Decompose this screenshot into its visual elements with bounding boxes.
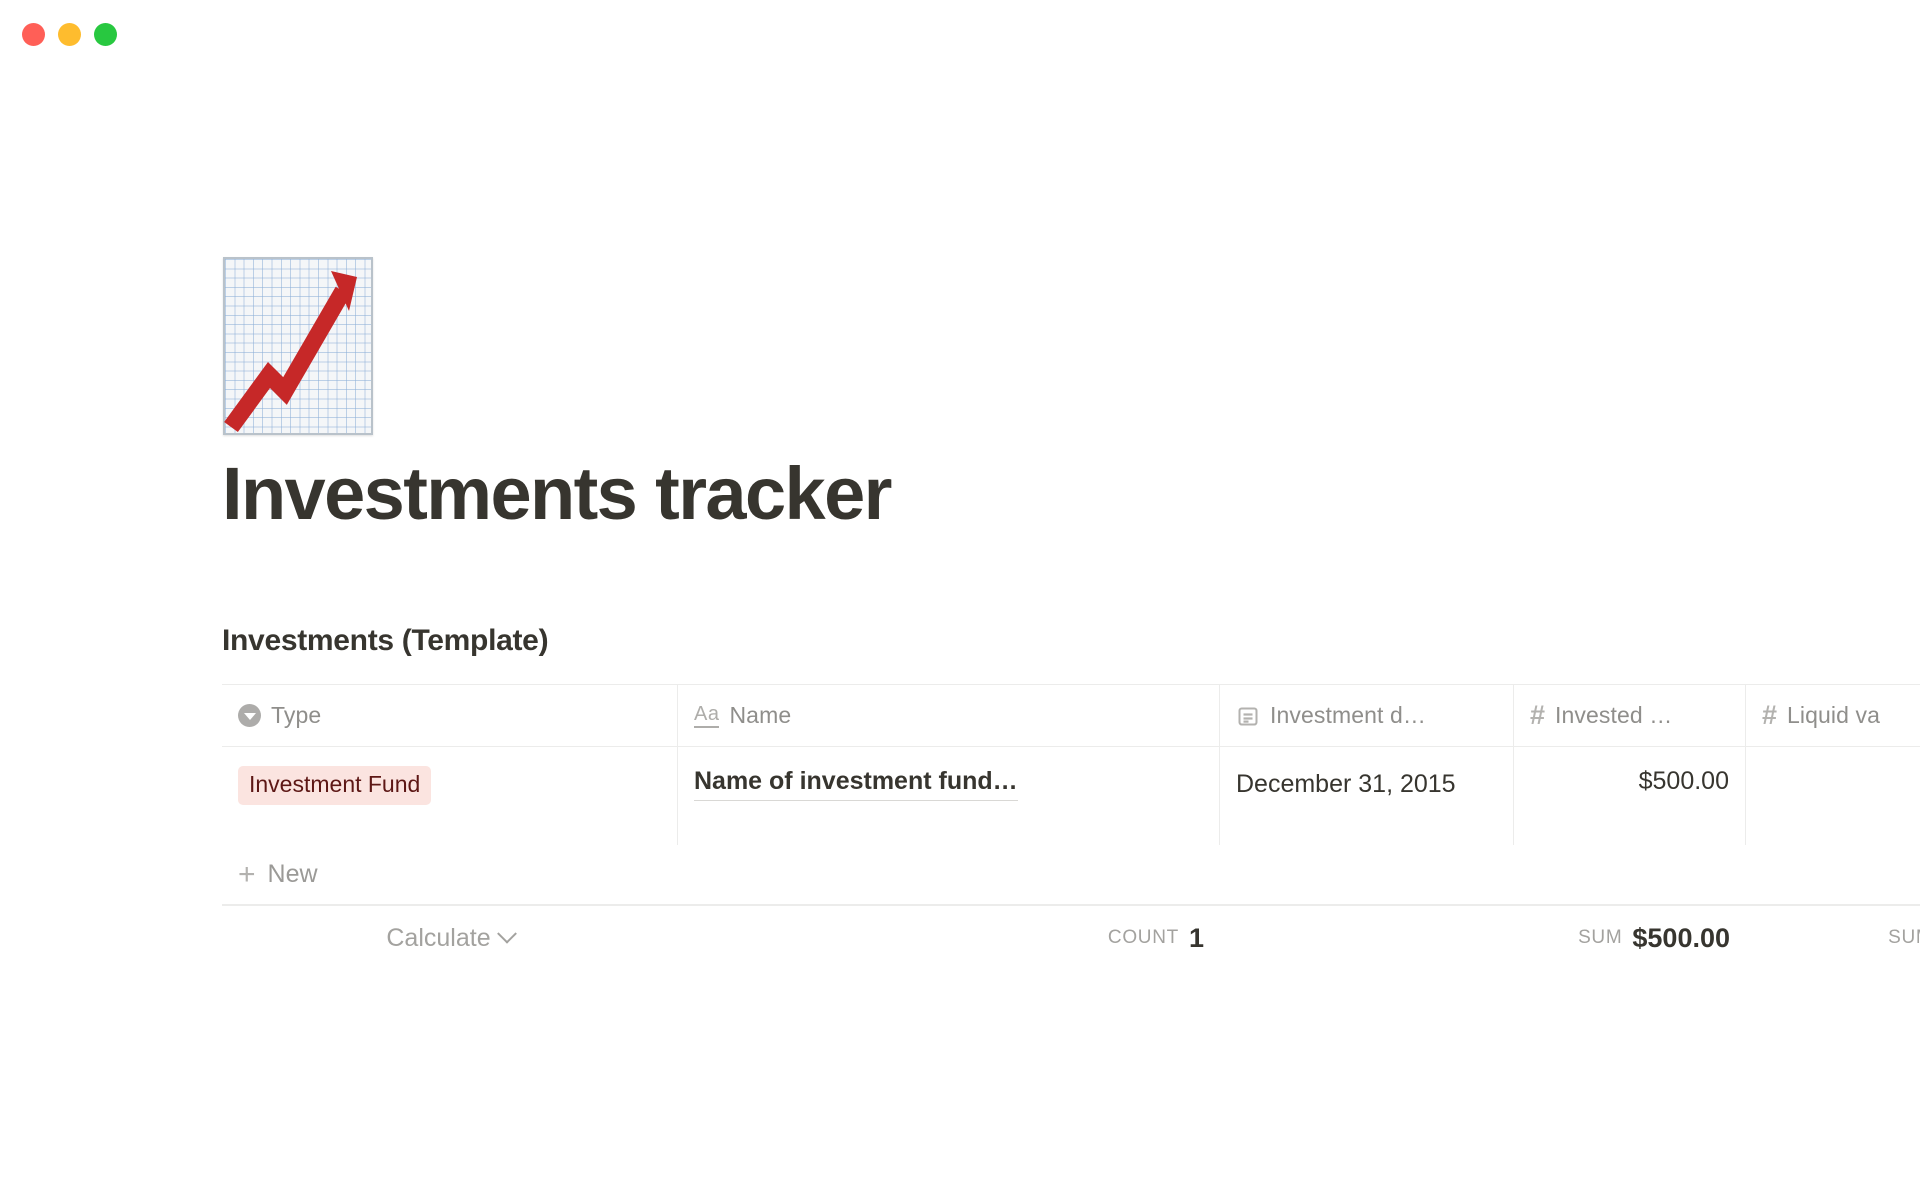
red-trend-line (223, 257, 373, 435)
cell-invested[interactable]: $500.00 (1514, 747, 1746, 845)
page-canvas: Investments tracker Investments (Templat… (0, 68, 1920, 1200)
count-value: 1 (1189, 923, 1204, 954)
cell-name[interactable]: Name of investment fund… (678, 747, 1220, 845)
aggregation-liquid-sum[interactable]: SUM $804.6 (1746, 906, 1920, 970)
column-header-type[interactable]: Type (222, 685, 678, 746)
cell-type[interactable]: Investment Fund (222, 747, 678, 845)
aggregation-date[interactable] (1220, 906, 1514, 970)
date-value: December 31, 2015 (1236, 766, 1456, 803)
zoom-button[interactable] (94, 23, 117, 46)
column-header-invested[interactable]: # Invested … (1514, 685, 1746, 746)
cell-investment-date[interactable]: December 31, 2015 (1220, 747, 1514, 845)
column-header-investment-date[interactable]: Investment d… (1220, 685, 1514, 746)
invested-value: $500.00 (1639, 766, 1729, 797)
window-title-bar (0, 0, 1920, 68)
page-icon[interactable] (222, 245, 374, 397)
minimize-button[interactable] (58, 23, 81, 46)
database-table: Type Aa Name Investment (222, 684, 1920, 906)
new-row-label: New (268, 860, 318, 889)
plus-icon: + (238, 860, 256, 890)
column-header-label: Type (271, 702, 321, 729)
aggregation-invested-sum[interactable]: SUM $500.00 (1514, 906, 1746, 970)
column-header-name[interactable]: Aa Name (678, 685, 1220, 746)
close-button[interactable] (22, 23, 45, 46)
select-icon (238, 704, 261, 727)
title-aa-icon: Aa (694, 704, 719, 728)
calculate-dropdown[interactable]: Calculate (222, 906, 678, 970)
chart-increasing-emoji (222, 245, 374, 423)
date-icon (1236, 704, 1260, 728)
table-header-row: Type Aa Name Investment (222, 685, 1920, 747)
cell-liquid-value[interactable]: $804.6 (1746, 747, 1920, 845)
number-icon: # (1762, 702, 1777, 729)
table-row[interactable]: Investment Fund Name of investment fund…… (222, 747, 1920, 845)
column-header-liquid-value[interactable]: # Liquid va (1746, 685, 1920, 746)
sum-label: SUM (1888, 927, 1920, 949)
column-header-label: Investment d… (1270, 702, 1426, 729)
table-footer-row: Calculate COUNT 1 SUM $500.00 SUM $804.6 (222, 906, 1920, 970)
status-badge: Investment Fund (238, 766, 431, 805)
chevron-down-icon (497, 924, 517, 944)
sum-label: SUM (1578, 927, 1622, 949)
number-icon: # (1530, 702, 1545, 729)
column-header-label: Liquid va (1787, 702, 1880, 729)
column-header-label: Name (729, 702, 791, 729)
calculate-label: Calculate (386, 924, 490, 953)
aggregation-count[interactable]: COUNT 1 (678, 906, 1220, 970)
add-new-row-button[interactable]: + New (222, 845, 1920, 905)
column-header-label: Invested … (1555, 702, 1672, 729)
database-title[interactable]: Investments (Template) (222, 623, 1920, 659)
count-label: COUNT (1108, 927, 1179, 949)
sum-value: $500.00 (1632, 923, 1730, 954)
row-title-link[interactable]: Name of investment fund… (694, 766, 1018, 800)
page-title[interactable]: Investments tracker (222, 455, 1920, 533)
